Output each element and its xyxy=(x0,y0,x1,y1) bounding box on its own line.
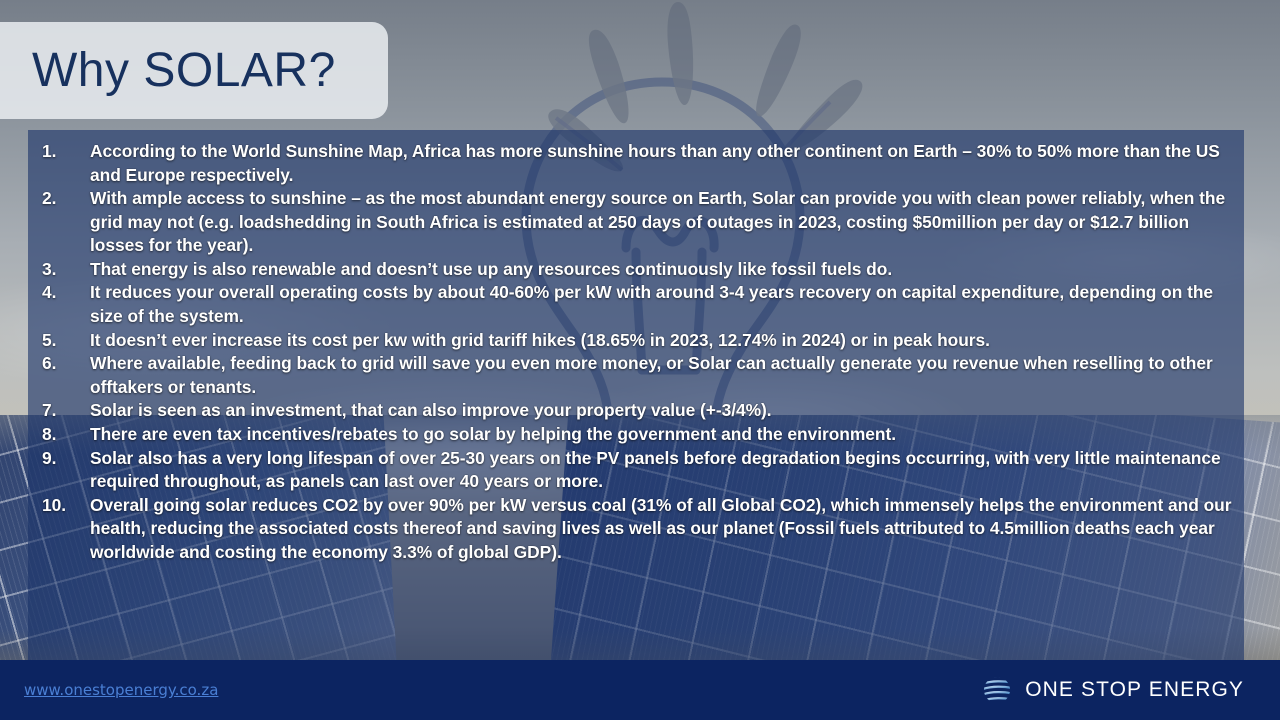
list-item-text: It doesn’t ever increase its cost per kw… xyxy=(90,329,1238,353)
title-box: Why SOLAR? xyxy=(0,22,388,119)
list-item-number: 6. xyxy=(34,352,90,376)
list-item: 9. Solar also has a very long lifespan o… xyxy=(34,447,1238,494)
list-item-text: There are even tax incentives/rebates to… xyxy=(90,423,1238,447)
company-logo: ONE STOP ENERGY xyxy=(979,672,1244,708)
list-item-text: Where available, feeding back to grid wi… xyxy=(90,352,1238,399)
list-item-number: 8. xyxy=(34,423,90,447)
list-item-number: 1. xyxy=(34,140,90,164)
list-item: 7. Solar is seen as an investment, that … xyxy=(34,399,1238,423)
list-item: 2. With ample access to sunshine – as th… xyxy=(34,187,1238,258)
list-item-text: With ample access to sunshine – as the m… xyxy=(90,187,1238,258)
list-item-number: 9. xyxy=(34,447,90,471)
list-item-number: 3. xyxy=(34,258,90,282)
list-item-number: 5. xyxy=(34,329,90,353)
content-panel: 1. According to the World Sunshine Map, … xyxy=(28,130,1244,660)
list-item: 4. It reduces your overall operating cos… xyxy=(34,281,1238,328)
list-item: 1. According to the World Sunshine Map, … xyxy=(34,140,1238,187)
list-item: 8. There are even tax incentives/rebates… xyxy=(34,423,1238,447)
list-item: 3. That energy is also renewable and doe… xyxy=(34,258,1238,282)
list-item-text: That energy is also renewable and doesn’… xyxy=(90,258,1238,282)
list-item-number: 4. xyxy=(34,281,90,305)
list-item-number: 10. xyxy=(34,494,90,518)
website-link[interactable]: www.onestopenergy.co.za xyxy=(24,681,218,699)
list-item: 5. It doesn’t ever increase its cost per… xyxy=(34,329,1238,353)
list-item: 10. Overall going solar reduces CO2 by o… xyxy=(34,494,1238,565)
list-item-number: 7. xyxy=(34,399,90,423)
list-item-text: Overall going solar reduces CO2 by over … xyxy=(90,494,1238,565)
list-item-text: It reduces your overall operating costs … xyxy=(90,281,1238,328)
list-item-number: 2. xyxy=(34,187,90,211)
benefits-list: 1. According to the World Sunshine Map, … xyxy=(28,130,1244,564)
company-name: ONE STOP ENERGY xyxy=(1025,678,1244,702)
list-item-text: Solar also has a very long lifespan of o… xyxy=(90,447,1238,494)
list-item: 6. Where available, feeding back to grid… xyxy=(34,352,1238,399)
list-item-text: According to the World Sunshine Map, Afr… xyxy=(90,140,1238,187)
list-item-text: Solar is seen as an investment, that can… xyxy=(90,399,1238,423)
page-title: Why SOLAR? xyxy=(32,47,336,95)
slide-root: Why SOLAR? 1. According to the World Sun… xyxy=(0,0,1280,720)
slide-footer: www.onestopenergy.co.za xyxy=(0,660,1280,720)
globe-sphere-icon xyxy=(979,672,1015,708)
